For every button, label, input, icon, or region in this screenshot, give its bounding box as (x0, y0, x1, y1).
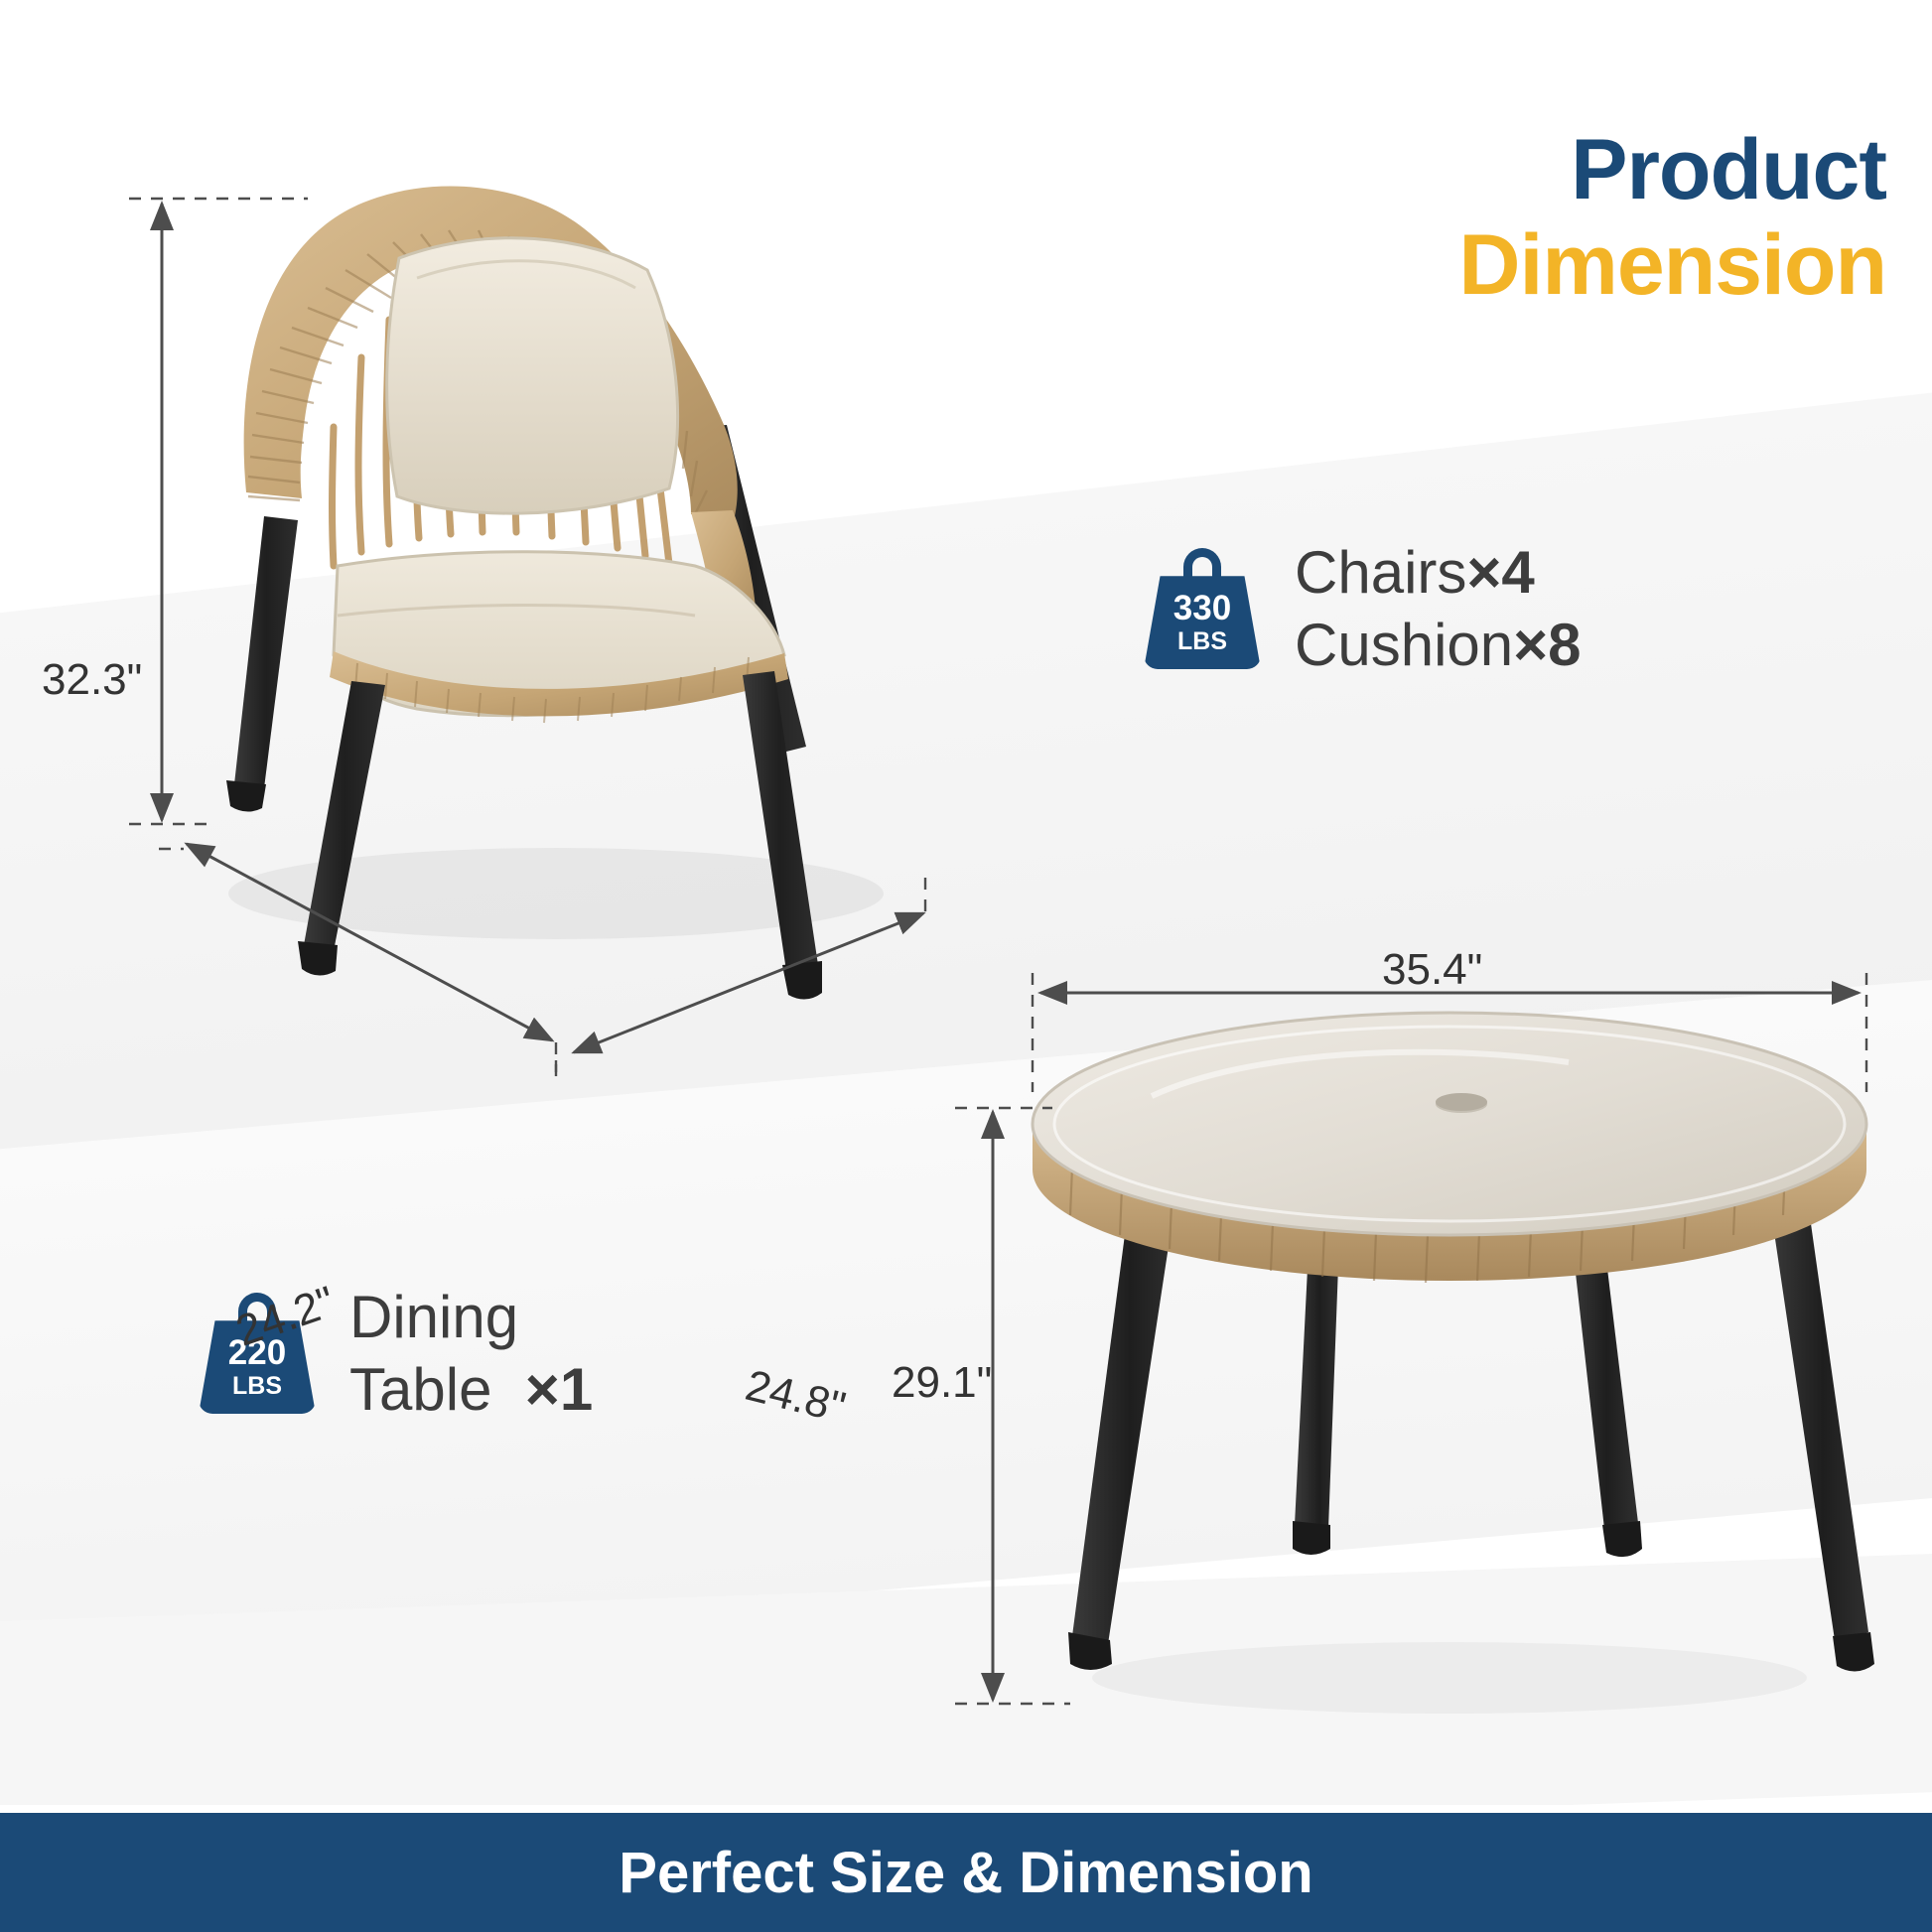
chairs-cushion-badge: 330 LBS Chairs×4 Cushion×8 (1144, 536, 1582, 681)
item-name: Dining (349, 1284, 518, 1350)
item-name: Cushion (1295, 612, 1513, 678)
weight-icon: 330 LBS (1144, 548, 1261, 669)
footer-divider (0, 1805, 1932, 1813)
badge-text: Dining Table ×1 (349, 1281, 593, 1426)
badge-line: Cushion×8 (1295, 609, 1582, 681)
footer-caption: Perfect Size & Dimension (0, 1813, 1932, 1932)
badge-line: Table ×1 (349, 1353, 593, 1426)
item-qty: ×8 (1513, 612, 1581, 678)
product-dimension-infographic: Product Dimension 330 LBS Chairs×4 Cushi… (0, 0, 1932, 1932)
title-line-1: Product (1458, 127, 1886, 212)
badge-line: Dining (349, 1281, 593, 1353)
badge-line: Chairs×4 (1295, 536, 1582, 609)
badge-text: Chairs×4 Cushion×8 (1295, 536, 1582, 681)
item-qty: ×1 (525, 1356, 593, 1423)
weight-unit: LBS (232, 1374, 282, 1399)
page-title: Product Dimension (1458, 127, 1886, 310)
title-line-2: Dimension (1458, 220, 1886, 310)
item-name: Table (349, 1356, 491, 1423)
item-name: Chairs (1295, 539, 1466, 606)
table-height-label: 29.1" (892, 1358, 992, 1408)
weight-unit: LBS (1177, 629, 1227, 654)
weight-body: 330 LBS (1144, 576, 1261, 669)
chair-height-label: 32.3" (42, 655, 142, 705)
weight-number: 330 (1173, 591, 1231, 625)
item-qty: ×4 (1466, 539, 1534, 606)
table-diameter-label: 35.4" (1382, 945, 1482, 995)
